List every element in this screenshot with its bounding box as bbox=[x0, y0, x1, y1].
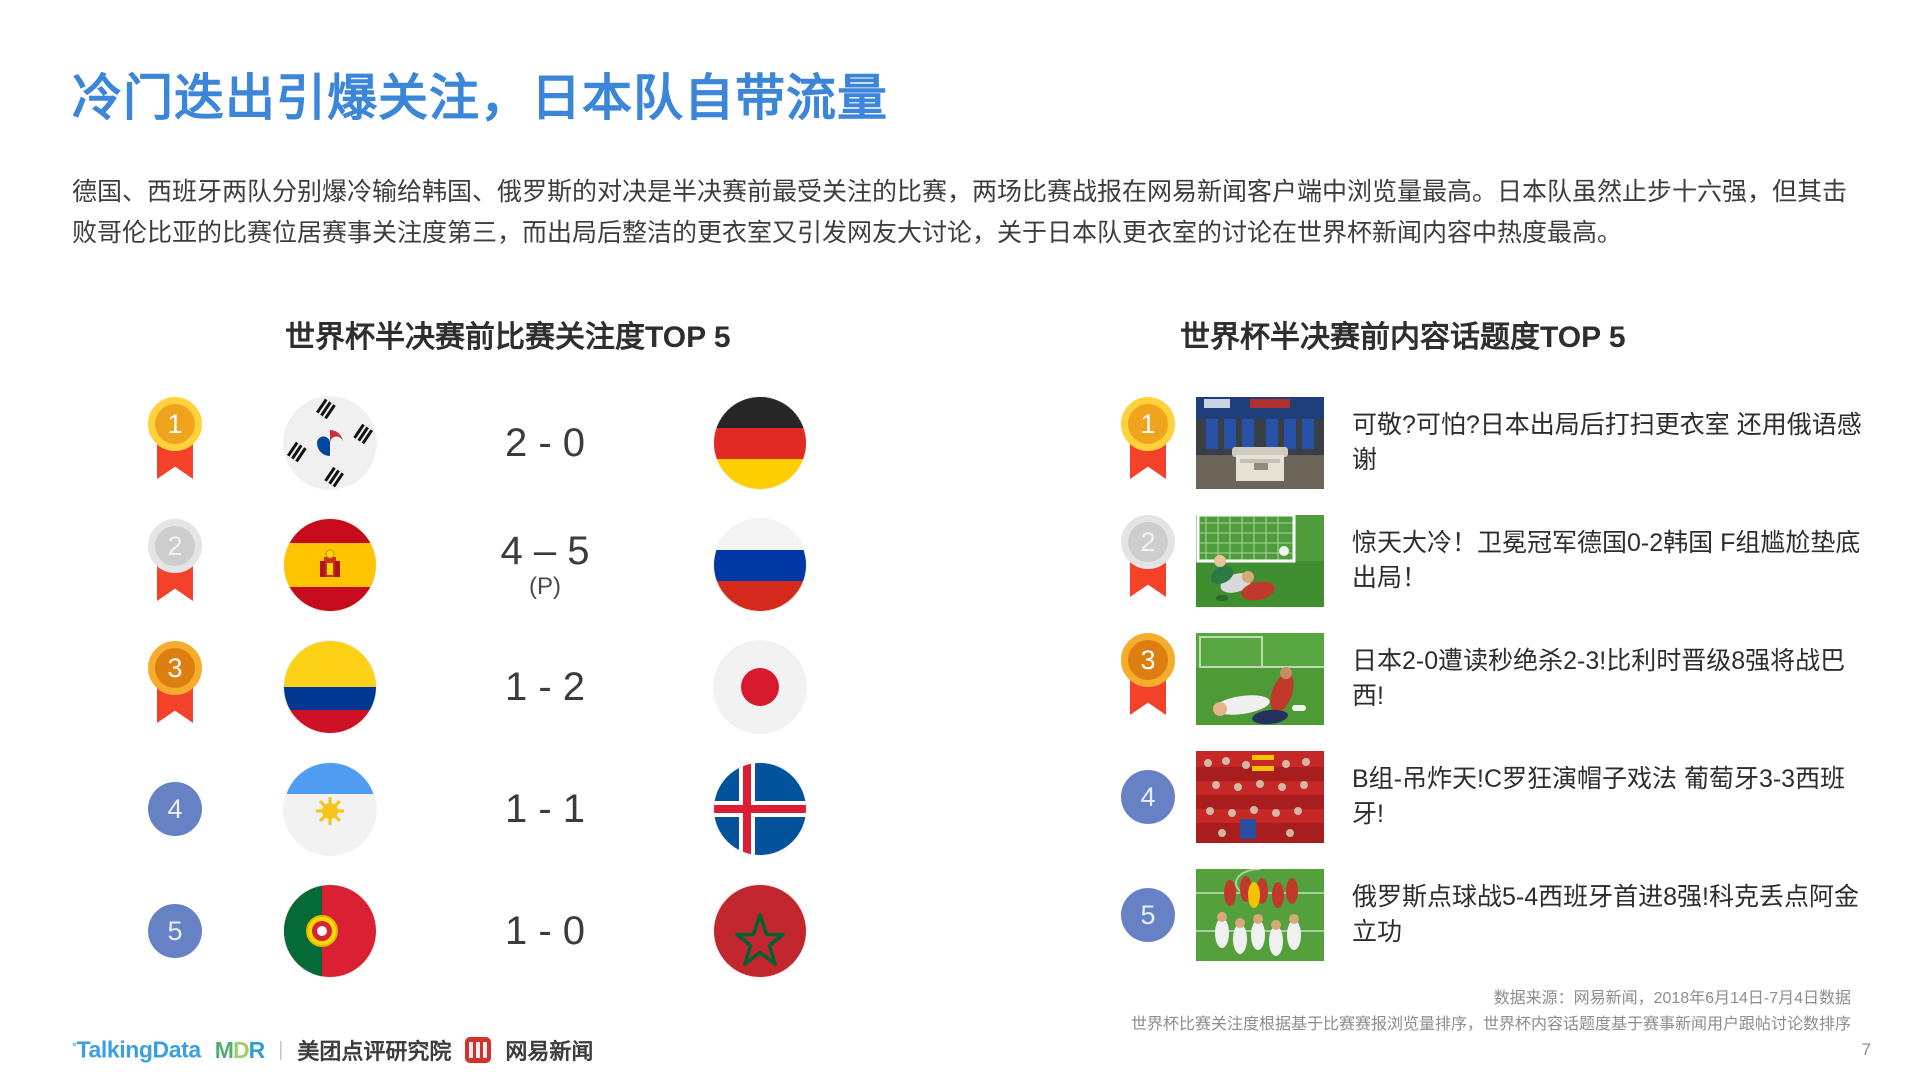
source-line-1: 数据来源：网易新闻，2018年6月14日-7月4日数据 bbox=[1131, 986, 1851, 1012]
score-text: 2 - 0 bbox=[505, 421, 585, 465]
table-row: 3 1 - 2 bbox=[120, 626, 930, 748]
match-list: 1 bbox=[120, 382, 930, 992]
flag-portugal-icon bbox=[284, 885, 376, 977]
team-a-cell bbox=[230, 763, 430, 855]
list-item[interactable]: 5 bbox=[1100, 860, 1900, 970]
flag-spain-icon bbox=[284, 519, 376, 611]
score-cell: 4 – 5 (P) bbox=[430, 530, 660, 599]
rank-cell: 1 bbox=[1100, 397, 1196, 489]
rank-badge: 4 bbox=[148, 782, 202, 836]
page-number: 7 bbox=[1862, 1040, 1871, 1060]
rank-badge: 5 bbox=[1121, 888, 1175, 942]
mdr-logo: MDR bbox=[215, 1037, 264, 1064]
rank-badge: 5 bbox=[148, 904, 202, 958]
news-title: 惊天大冷！卫冕冠军德国0-2韩国 F组尴尬垫底出局！ bbox=[1352, 526, 1862, 596]
thumb-playerdown-image bbox=[1196, 633, 1324, 725]
table-row: 5 1 - 0 bbox=[120, 870, 930, 992]
team-b-cell bbox=[660, 519, 860, 611]
team-a-cell bbox=[230, 519, 430, 611]
thumb-goalmouth-image bbox=[1196, 515, 1324, 607]
score-cell: 1 - 2 bbox=[430, 666, 660, 708]
list-item[interactable]: 4 bbox=[1100, 742, 1900, 852]
rank-number: 1 bbox=[148, 397, 202, 451]
rank-cell: 3 bbox=[120, 641, 230, 733]
medal-bronze-icon: 3 bbox=[144, 641, 206, 733]
score-cell: 2 - 0 bbox=[430, 422, 660, 464]
rank-cell: 5 bbox=[120, 904, 230, 958]
score-cell: 1 - 1 bbox=[430, 788, 660, 830]
rank-number: 3 bbox=[148, 641, 202, 695]
logo-bar: •TalkingData MDR | 美团点评研究院 网易新闻 bbox=[72, 1034, 593, 1066]
list-item[interactable]: 1 bbox=[1100, 388, 1900, 498]
score-text: 1 - 0 bbox=[505, 909, 585, 953]
netease-logo-text: 网易新闻 bbox=[505, 1034, 593, 1066]
slide-root: 冷门迭出引爆关注，日本队自带流量 德国、西班牙两队分别爆冷输给韩国、俄罗斯的对决… bbox=[0, 0, 1921, 1080]
team-b-cell bbox=[660, 763, 860, 855]
rank-badge: 4 bbox=[1121, 770, 1175, 824]
team-a-cell bbox=[230, 641, 430, 733]
logo-divider: | bbox=[278, 1039, 283, 1062]
rank-cell: 2 bbox=[120, 519, 230, 611]
table-row: 2 bbox=[120, 504, 930, 626]
rank-cell: 2 bbox=[1100, 515, 1196, 607]
netease-badge-icon bbox=[465, 1037, 491, 1063]
talkingdata-logo-text: TalkingData bbox=[77, 1037, 201, 1063]
flag-iceland-icon bbox=[714, 763, 806, 855]
news-title: 俄罗斯点球战5-4西班牙首进8强!科克丢点阿金立功 bbox=[1352, 880, 1862, 950]
thumb-redcrowd-image bbox=[1196, 751, 1324, 843]
team-b-cell bbox=[660, 397, 860, 489]
list-item[interactable]: 2 bbox=[1100, 506, 1900, 616]
source-note: 数据来源：网易新闻，2018年6月14日-7月4日数据 世界杯比赛关注度根据基于… bbox=[1131, 986, 1851, 1038]
page-title: 冷门迭出引爆关注，日本队自带流量 bbox=[72, 58, 888, 130]
list-item[interactable]: 3 日本2-0遭读秒 bbox=[1100, 624, 1900, 734]
team-a-cell bbox=[230, 397, 430, 489]
meituan-logo-text: 美团点评研究院 bbox=[297, 1034, 451, 1066]
table-row: 1 bbox=[120, 382, 930, 504]
talkingdata-logo: •TalkingData bbox=[72, 1036, 201, 1064]
flag-germany-icon bbox=[714, 397, 806, 489]
medal-bronze-icon: 3 bbox=[1117, 633, 1179, 725]
rank-number: 2 bbox=[148, 519, 202, 573]
news-title: 可敬?可怕?日本出局后打扫更衣室 还用俄语感谢 bbox=[1352, 408, 1862, 478]
table-row: 4 bbox=[120, 748, 930, 870]
flag-colombia-icon bbox=[284, 641, 376, 733]
page-description: 德国、西班牙两队分别爆冷输给韩国、俄罗斯的对决是半决赛前最受关注的比赛，两场比赛… bbox=[72, 172, 1852, 254]
flag-morocco-icon bbox=[714, 885, 806, 977]
right-panel-heading: 世界杯半决赛前内容话题度TOP 5 bbox=[1180, 312, 1626, 356]
left-panel-heading: 世界杯半决赛前比赛关注度TOP 5 bbox=[285, 312, 731, 356]
flag-russia-icon bbox=[714, 519, 806, 611]
rank-cell: 5 bbox=[1100, 888, 1196, 942]
news-list: 1 bbox=[1100, 388, 1900, 978]
rank-number: 1 bbox=[1121, 397, 1175, 451]
thumb-lockerroom-image bbox=[1196, 397, 1324, 489]
team-a-cell bbox=[230, 885, 430, 977]
source-line-2: 世界杯比赛关注度根据基于比赛赛报浏览量排序，世界杯内容话题度基于赛事新闻用户跟帖… bbox=[1131, 1012, 1851, 1038]
team-b-cell bbox=[660, 885, 860, 977]
thumb-celebration-image bbox=[1196, 869, 1324, 961]
medal-gold-icon: 1 bbox=[144, 397, 206, 489]
team-b-cell bbox=[660, 641, 860, 733]
penalty-note: (P) bbox=[430, 574, 660, 599]
medal-silver-icon: 2 bbox=[144, 519, 206, 611]
score-text: 4 – 5 bbox=[501, 529, 590, 573]
rank-cell: 1 bbox=[120, 397, 230, 489]
flag-korea-icon bbox=[284, 397, 376, 489]
rank-cell: 4 bbox=[1100, 770, 1196, 824]
flag-japan-icon bbox=[714, 641, 806, 733]
news-title: B组-吊炸天!C罗狂演帽子戏法 葡萄牙3-3西班牙! bbox=[1352, 762, 1862, 832]
news-title: 日本2-0遭读秒绝杀2-3!比利时晋级8强将战巴西! bbox=[1352, 644, 1862, 714]
medal-gold-icon: 1 bbox=[1117, 397, 1179, 489]
score-text: 1 - 1 bbox=[505, 787, 585, 831]
rank-cell: 4 bbox=[120, 782, 230, 836]
score-text: 1 - 2 bbox=[505, 665, 585, 709]
score-cell: 1 - 0 bbox=[430, 910, 660, 952]
rank-cell: 3 bbox=[1100, 633, 1196, 725]
medal-silver-icon: 2 bbox=[1117, 515, 1179, 607]
flag-argentina-icon bbox=[284, 763, 376, 855]
rank-number: 3 bbox=[1121, 633, 1175, 687]
rank-number: 2 bbox=[1121, 515, 1175, 569]
